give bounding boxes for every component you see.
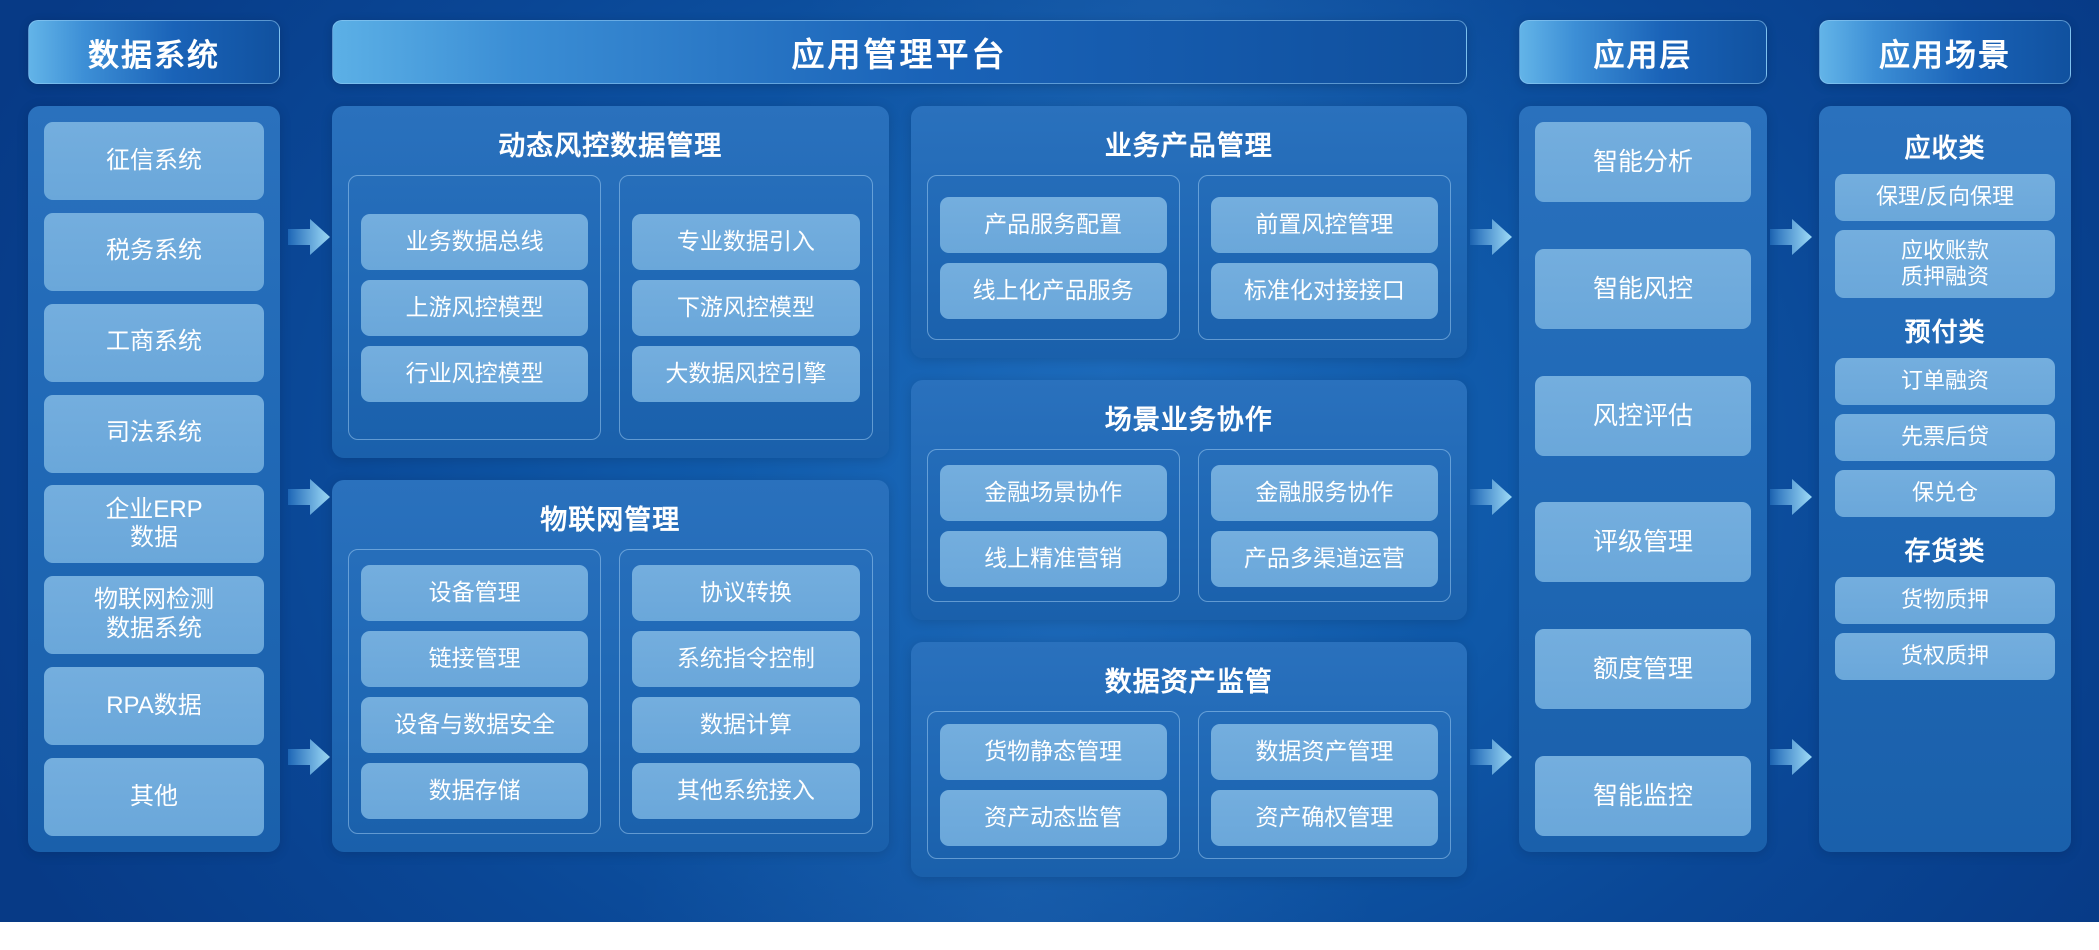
header-application-layer: 应用层 (1519, 20, 1767, 84)
data-system-item[interactable]: 税务系统 (44, 213, 264, 291)
application-layer-item[interactable]: 额度管理 (1535, 629, 1751, 709)
scene-group-title: 应收类 (1835, 128, 2055, 165)
application-layer-panel: 智能分析智能风控风控评估评级管理额度管理智能监控 (1519, 106, 1767, 852)
platform-module-item[interactable]: 其他系统接入 (632, 763, 859, 819)
platform-module-item[interactable]: 下游风控模型 (632, 280, 859, 336)
platform-module-item[interactable]: 业务数据总线 (361, 214, 588, 270)
column-data-system: 数据系统 征信系统税务系统工商系统司法系统企业ERP数据物联网检测数据系统RPA… (28, 20, 280, 852)
platform-module-item[interactable]: 大数据风控引擎 (632, 346, 859, 402)
platform-module-columns: 设备管理链接管理设备与数据安全数据存储协议转换系统指令控制数据计算其他系统接入 (348, 549, 873, 834)
data-system-item[interactable]: 企业ERP数据 (44, 485, 264, 563)
data-system-item[interactable]: RPA数据 (44, 667, 264, 745)
platform-subgroup: 设备管理链接管理设备与数据安全数据存储 (348, 549, 601, 834)
column-application-scene: 应用场景 应收类保理/反向保理应收账款质押融资预付类订单融资先票后贷保兑仓存货类… (1819, 20, 2071, 852)
scene-item[interactable]: 应收账款质押融资 (1835, 230, 2055, 298)
scene-item[interactable]: 先票后贷 (1835, 414, 2055, 461)
architecture-diagram: 数据系统 征信系统税务系统工商系统司法系统企业ERP数据物联网检测数据系统RPA… (0, 0, 2099, 950)
platform-module-item[interactable]: 金融服务协作 (1211, 465, 1438, 521)
platform-module-item[interactable]: 金融场景协作 (940, 465, 1167, 521)
application-layer-item[interactable]: 智能分析 (1535, 122, 1751, 202)
platform-module-item[interactable]: 数据资产管理 (1211, 724, 1438, 780)
scene-item[interactable]: 货权质押 (1835, 633, 2055, 680)
platform-module-item[interactable]: 标准化对接接口 (1211, 263, 1438, 319)
platform-module-title: 物联网管理 (348, 498, 873, 537)
platform-module-columns: 货物静态管理资产动态监管数据资产管理资产确权管理 (927, 711, 1452, 859)
data-system-panel: 征信系统税务系统工商系统司法系统企业ERP数据物联网检测数据系统RPA数据其他 (28, 106, 280, 852)
platform-module-columns: 业务数据总线上游风控模型行业风控模型专业数据引入下游风控模型大数据风控引擎 (348, 175, 873, 440)
platform-subgroup: 货物静态管理资产动态监管 (927, 711, 1180, 859)
column-platform: 应用管理平台 动态风控数据管理业务数据总线上游风控模型行业风控模型专业数据引入下… (332, 20, 1467, 852)
scene-item[interactable]: 订单融资 (1835, 358, 2055, 405)
header-data-system: 数据系统 (28, 20, 280, 84)
platform-subgroup: 金融服务协作产品多渠道运营 (1198, 449, 1451, 602)
data-system-item[interactable]: 征信系统 (44, 122, 264, 200)
platform-modules: 动态风控数据管理业务数据总线上游风控模型行业风控模型专业数据引入下游风控模型大数… (332, 106, 1467, 852)
platform-subgroup: 数据资产管理资产确权管理 (1198, 711, 1451, 859)
platform-module-item[interactable]: 货物静态管理 (940, 724, 1167, 780)
platform-module-item[interactable]: 上游风控模型 (361, 280, 588, 336)
data-system-item[interactable]: 司法系统 (44, 395, 264, 473)
platform-module-title: 数据资产监管 (927, 660, 1452, 699)
platform-right-stack: 业务产品管理产品服务配置线上化产品服务前置风控管理标准化对接接口场景业务协作金融… (911, 106, 1468, 852)
platform-module-item[interactable]: 系统指令控制 (632, 631, 859, 687)
platform-module-item[interactable]: 产品服务配置 (940, 197, 1167, 253)
header-application-scene: 应用场景 (1819, 20, 2071, 84)
platform-module: 场景业务协作金融场景协作线上精准营销金融服务协作产品多渠道运营 (911, 380, 1468, 620)
column-application-layer: 应用层 智能分析智能风控风控评估评级管理额度管理智能监控 (1519, 20, 1767, 852)
scene-group-list: 订单融资先票后贷保兑仓 (1835, 358, 2055, 517)
platform-module: 业务产品管理产品服务配置线上化产品服务前置风控管理标准化对接接口 (911, 106, 1468, 358)
platform-module-item[interactable]: 前置风控管理 (1211, 197, 1438, 253)
platform-module-item[interactable]: 行业风控模型 (361, 346, 588, 402)
scene-group-title: 存货类 (1835, 531, 2055, 568)
platform-module: 动态风控数据管理业务数据总线上游风控模型行业风控模型专业数据引入下游风控模型大数… (332, 106, 889, 458)
scene-group-list: 保理/反向保理应收账款质押融资 (1835, 174, 2055, 298)
platform-subgroup: 专业数据引入下游风控模型大数据风控引擎 (619, 175, 872, 440)
platform-module-item[interactable]: 协议转换 (632, 565, 859, 621)
platform-module-item[interactable]: 产品多渠道运营 (1211, 531, 1438, 587)
platform-module-title: 场景业务协作 (927, 398, 1452, 437)
data-system-item[interactable]: 物联网检测数据系统 (44, 576, 264, 654)
platform-module-item[interactable]: 数据计算 (632, 697, 859, 753)
platform-subgroup: 金融场景协作线上精准营销 (927, 449, 1180, 602)
platform-module-item[interactable]: 线上精准营销 (940, 531, 1167, 587)
scene-item[interactable]: 货物质押 (1835, 577, 2055, 624)
platform-subgroup: 业务数据总线上游风控模型行业风控模型 (348, 175, 601, 440)
platform-module-item[interactable]: 数据存储 (361, 763, 588, 819)
platform-module-columns: 金融场景协作线上精准营销金融服务协作产品多渠道运营 (927, 449, 1452, 602)
platform-module-item[interactable]: 资产动态监管 (940, 790, 1167, 846)
platform-subgroup: 产品服务配置线上化产品服务 (927, 175, 1180, 340)
platform-module: 物联网管理设备管理链接管理设备与数据安全数据存储协议转换系统指令控制数据计算其他… (332, 480, 889, 852)
platform-left-stack: 动态风控数据管理业务数据总线上游风控模型行业风控模型专业数据引入下游风控模型大数… (332, 106, 889, 852)
platform-module-item[interactable]: 设备与数据安全 (361, 697, 588, 753)
platform-module-item[interactable]: 链接管理 (361, 631, 588, 687)
scene-item[interactable]: 保兑仓 (1835, 470, 2055, 517)
platform-module-title: 动态风控数据管理 (348, 124, 873, 163)
scene-item[interactable]: 保理/反向保理 (1835, 174, 2055, 221)
header-platform: 应用管理平台 (332, 20, 1467, 84)
data-system-item[interactable]: 其他 (44, 758, 264, 836)
application-layer-item[interactable]: 评级管理 (1535, 502, 1751, 582)
platform-subgroup: 前置风控管理标准化对接接口 (1198, 175, 1451, 340)
platform-module-title: 业务产品管理 (927, 124, 1452, 163)
platform-module-item[interactable]: 资产确权管理 (1211, 790, 1438, 846)
application-scene-panel: 应收类保理/反向保理应收账款质押融资预付类订单融资先票后贷保兑仓存货类货物质押货… (1819, 106, 2071, 852)
scene-group-title: 预付类 (1835, 312, 2055, 349)
platform-module: 数据资产监管货物静态管理资产动态监管数据资产管理资产确权管理 (911, 642, 1468, 877)
platform-module-item[interactable]: 设备管理 (361, 565, 588, 621)
application-layer-item[interactable]: 风控评估 (1535, 376, 1751, 456)
platform-subgroup: 协议转换系统指令控制数据计算其他系统接入 (619, 549, 872, 834)
scene-group-list: 货物质押货权质押 (1835, 577, 2055, 680)
application-layer-item[interactable]: 智能监控 (1535, 756, 1751, 836)
application-layer-item[interactable]: 智能风控 (1535, 249, 1751, 329)
platform-module-columns: 产品服务配置线上化产品服务前置风控管理标准化对接接口 (927, 175, 1452, 340)
data-system-item[interactable]: 工商系统 (44, 304, 264, 382)
platform-module-item[interactable]: 专业数据引入 (632, 214, 859, 270)
platform-module-item[interactable]: 线上化产品服务 (940, 263, 1167, 319)
